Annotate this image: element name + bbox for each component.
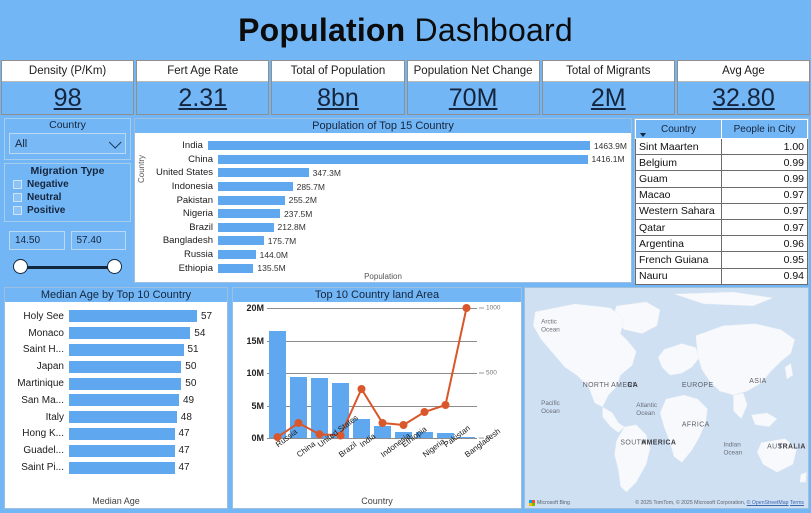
median-age-row[interactable]: San Ma...49 — [7, 392, 223, 409]
bing-logo: Microsoft Bing — [529, 500, 570, 506]
population-bar-value: 237.5M — [284, 209, 312, 219]
median-age-label: Monaco — [7, 328, 69, 339]
openstreetmap-link[interactable]: © OpenStreetMap — [747, 500, 789, 506]
map-label-indian-ocean-2: Ocean — [723, 449, 742, 456]
median-age-label: Martinique — [7, 378, 69, 389]
kpi-label-0: Density (P/Km) — [2, 61, 133, 82]
chevron-down-icon — [109, 136, 122, 149]
page-title: Population Dashboard — [0, 5, 811, 55]
range-min-input[interactable]: 14.50 — [9, 231, 65, 250]
median-age-xlabel: Median Age — [5, 496, 227, 506]
median-age-value: 54 — [194, 328, 205, 339]
population-bar-value: 255.2M — [289, 195, 317, 205]
range-slider[interactable] — [15, 259, 120, 275]
sort-desc-icon — [640, 133, 646, 137]
cell-country: Macao — [636, 187, 722, 203]
land-area-title: Top 10 Country land Area — [233, 288, 521, 302]
country-filter: Country All — [4, 118, 131, 160]
population-bar[interactable] — [218, 168, 309, 177]
map-label-australia-bold: TRALIA — [778, 444, 806, 451]
land-area-line-series — [267, 308, 477, 438]
land-area-ytick: 15M — [246, 336, 264, 346]
population-bar[interactable] — [218, 223, 274, 232]
median-age-bar[interactable] — [69, 344, 184, 356]
map-label-europe: EUROPE — [682, 382, 714, 389]
median-age-plot: Holy See57Monaco54Saint H...51Japan50Mar… — [5, 302, 227, 508]
table-row[interactable]: French Guiana0.95 — [636, 252, 808, 268]
land-area-plot: 0M5M10M15M20M05001000 RussiaChinaUnited … — [233, 302, 521, 508]
population-bar[interactable] — [218, 250, 256, 259]
kpi-row: Density (P/Km)98Fert Age Rate2.31Total o… — [0, 60, 811, 115]
map-label-asia: ASIA — [749, 378, 766, 385]
population-bar-value: 144.0M — [260, 250, 288, 260]
population-bar-row[interactable]: Bangladesh175.7M — [145, 234, 627, 248]
country-select-value: All — [15, 138, 27, 150]
population-top15-chart: Population of Top 15 Country Country Ind… — [134, 118, 632, 283]
land-area-density-point[interactable] — [358, 385, 366, 393]
median-age-bar[interactable] — [69, 445, 175, 457]
table-row[interactable]: Macao0.97 — [636, 187, 808, 203]
population-bar-value: 285.7M — [297, 182, 325, 192]
people-in-city-table-panel: Country People in City Sint Maarten1.00B… — [634, 118, 809, 283]
population-bar-label: Brazil — [145, 222, 218, 233]
kpi-value-1: 2.31 — [137, 82, 268, 114]
land-area-density-line — [278, 308, 467, 437]
median-age-value: 50 — [185, 378, 196, 389]
population-bar-row[interactable]: Nigeria237.5M — [145, 207, 627, 221]
migration-option-label: Neutral — [27, 192, 61, 203]
map-label-africa: AFRICA — [682, 422, 710, 429]
population-bar-label: Pakistan — [145, 195, 218, 206]
range-slider-handle-min[interactable] — [13, 259, 28, 274]
country-filter-label: Country — [5, 119, 130, 132]
population-bar-row[interactable]: India1463.9M — [145, 139, 627, 153]
cell-people-in-city: 0.94 — [722, 268, 808, 284]
microsoft-logo-icon — [529, 500, 535, 506]
land-area-chart: Top 10 Country land Area 0M5M10M15M20M05… — [232, 287, 522, 509]
population-top15-bars: India1463.9MChina1416.1MUnited States347… — [145, 139, 627, 275]
population-bar-row[interactable]: Indonesia285.7M — [145, 180, 627, 194]
map-label-atlantic-ocean: Atlantic — [636, 402, 657, 409]
kpi-card-1: Fert Age Rate2.31 — [136, 60, 269, 115]
cell-country: Nauru — [636, 268, 722, 284]
range-slider-track — [15, 266, 120, 269]
median-age-bar[interactable] — [69, 327, 190, 339]
population-bar-label: United States — [145, 167, 218, 178]
median-age-row[interactable]: Monaco54 — [7, 325, 223, 342]
population-bar-value: 1463.9M — [594, 141, 627, 151]
population-bar-label: China — [145, 154, 218, 165]
kpi-label-2: Total of Population — [272, 61, 403, 82]
cell-country: Qatar — [636, 219, 722, 235]
land-area-xtick: China — [295, 439, 317, 459]
population-bar-value: 1416.1M — [592, 154, 625, 164]
median-age-label: Italy — [7, 412, 69, 423]
median-age-value: 50 — [185, 361, 196, 372]
kpi-value-3: 70M — [408, 82, 539, 114]
column-header-people-in-city[interactable]: People in City — [722, 120, 808, 139]
population-bar-label: Nigeria — [145, 208, 218, 219]
land-area-xtick: Brazil — [337, 440, 358, 459]
median-age-label: Guadel... — [7, 445, 69, 456]
range-max-input[interactable]: 57.40 — [71, 231, 127, 250]
kpi-value-0: 98 — [2, 82, 133, 114]
median-age-value: 51 — [188, 344, 199, 355]
migration-type-filter: Migration Type NegativeNeutralPositive — [4, 163, 131, 222]
map-label-north-america-bold: CA — [627, 382, 638, 389]
population-bar[interactable] — [218, 155, 588, 164]
map-label-atlantic-ocean-2: Ocean — [636, 410, 655, 417]
land-area-ytick-mark — [479, 373, 484, 374]
median-age-row[interactable]: Guadel...47 — [7, 442, 223, 459]
migration-type-label: Migration Type — [5, 164, 130, 178]
cell-country: Guam — [636, 171, 722, 187]
land-area-density-point[interactable] — [379, 419, 387, 427]
cell-people-in-city: 0.99 — [722, 155, 808, 171]
world-map[interactable]: Arctic Ocean NORTH AMERI CA Pacific Ocea… — [525, 288, 808, 508]
median-age-bar[interactable] — [69, 462, 175, 474]
migration-option-negative[interactable]: Negative — [5, 178, 130, 191]
median-age-value: 47 — [179, 462, 190, 473]
range-slider-filter: 14.50 57.40 — [4, 226, 131, 282]
median-age-value: 57 — [201, 311, 212, 322]
population-bar-label: India — [145, 140, 208, 151]
cell-people-in-city: 0.96 — [722, 236, 808, 252]
kpi-label-5: Avg Age — [678, 61, 809, 82]
population-bar-row[interactable]: China1416.1M — [145, 153, 627, 167]
map-label-arctic-ocean-2: Ocean — [541, 327, 560, 334]
population-bar-label: Bangladesh — [145, 235, 218, 246]
cell-people-in-city: 0.97 — [722, 203, 808, 219]
table-row[interactable]: Nauru0.94 — [636, 268, 808, 284]
kpi-card-5: Avg Age32.80 — [677, 60, 810, 115]
map-attribution: © 2025 TomTom, © 2025 Microsoft Corporat… — [635, 500, 804, 506]
median-age-bar[interactable] — [69, 428, 175, 440]
population-bar-row[interactable]: United States347.3M — [145, 166, 627, 180]
median-age-label: Japan — [7, 361, 69, 372]
population-bar-row[interactable]: Brazil212.8M — [145, 221, 627, 235]
population-bar[interactable] — [218, 209, 280, 218]
median-age-label: Hong K... — [7, 428, 69, 439]
population-top15-xlabel: Population — [135, 272, 631, 281]
people-in-city-table: Country People in City Sint Maarten1.00B… — [635, 119, 808, 285]
median-age-value: 47 — [179, 445, 190, 456]
terms-link[interactable]: Terms — [790, 500, 804, 506]
median-age-label: San Ma... — [7, 395, 69, 406]
population-bar[interactable] — [218, 196, 285, 205]
map-attribution-text: © 2025 TomTom, © 2025 Microsoft Corporat… — [635, 500, 745, 506]
table-row[interactable]: Guam0.99 — [636, 171, 808, 187]
median-age-row[interactable]: Hong K...47 — [7, 426, 223, 443]
land-area-density-point[interactable] — [463, 304, 471, 312]
population-bar[interactable] — [218, 182, 293, 191]
land-area-ytick-right: 500 — [486, 370, 497, 377]
median-age-value: 48 — [181, 412, 192, 423]
land-area-density-point[interactable] — [400, 421, 408, 429]
population-bar-value: 347.3M — [313, 168, 341, 178]
median-age-label: Saint Pi... — [7, 462, 69, 473]
checkbox-icon[interactable] — [13, 193, 22, 202]
median-age-bar[interactable] — [69, 378, 181, 390]
map-label-south-america-bold: AMERICA — [641, 440, 676, 447]
population-bar-value: 212.8M — [278, 222, 306, 232]
median-age-row[interactable]: Saint H...51 — [7, 342, 223, 359]
land-area-ytick: 5M — [251, 401, 264, 411]
column-header-country[interactable]: Country — [636, 120, 722, 139]
migration-option-label: Positive — [27, 205, 65, 216]
population-bar[interactable] — [218, 236, 264, 245]
land-area-density-point[interactable] — [442, 401, 450, 409]
table-body: Sint Maarten1.00Belgium0.99Guam0.99Macao… — [636, 139, 808, 285]
kpi-value-5: 32.80 — [678, 82, 809, 114]
kpi-value-2: 8bn — [272, 82, 403, 114]
land-area-ytick-right: 1000 — [486, 305, 500, 312]
kpi-card-4: Total of Migrants2M — [542, 60, 675, 115]
kpi-card-3: Population Net Change70M — [407, 60, 540, 115]
land-area-ytick: 20M — [246, 303, 264, 313]
cell-country: Western Sahara — [636, 203, 722, 219]
population-bar-row[interactable]: Pakistan255.2M — [145, 193, 627, 207]
median-age-bar[interactable] — [69, 411, 177, 423]
table-row[interactable]: Belgium0.99 — [636, 155, 808, 171]
kpi-label-4: Total of Migrants — [543, 61, 674, 82]
checkbox-icon[interactable] — [13, 180, 22, 189]
land-area-ytick: 0M — [251, 433, 264, 443]
median-age-label: Saint H... — [7, 344, 69, 355]
cell-people-in-city: 0.99 — [722, 171, 808, 187]
median-age-row[interactable]: Saint Pi...47 — [7, 459, 223, 476]
cell-country: Argentina — [636, 236, 722, 252]
range-slider-handle-max[interactable] — [107, 259, 122, 274]
population-bar-label: Indonesia — [145, 181, 218, 192]
kpi-label-3: Population Net Change — [408, 61, 539, 82]
median-age-value: 47 — [179, 428, 190, 439]
median-age-row[interactable]: Holy See57 — [7, 308, 223, 325]
cell-country: Belgium — [636, 155, 722, 171]
median-age-bars: Holy See57Monaco54Saint H...51Japan50Mar… — [5, 302, 227, 476]
world-map-panel[interactable]: Arctic Ocean NORTH AMERI CA Pacific Ocea… — [524, 287, 809, 509]
cell-country: French Guiana — [636, 252, 722, 268]
median-age-value: 49 — [183, 395, 194, 406]
table-header-row: Country People in City — [636, 120, 808, 139]
cell-people-in-city: 0.97 — [722, 219, 808, 235]
median-age-row[interactable]: Japan50 — [7, 358, 223, 375]
median-age-label: Holy See — [7, 311, 69, 322]
map-label-pacific-ocean: Pacific — [541, 400, 560, 407]
land-area-xlabel: Country — [233, 496, 521, 506]
population-top15-plot: Country India1463.9MChina1416.1MUnited S… — [135, 133, 631, 283]
median-age-chart: Median Age by Top 10 Country Holy See57M… — [4, 287, 228, 509]
median-age-bar[interactable] — [69, 361, 181, 373]
cell-people-in-city: 1.00 — [722, 139, 808, 155]
land-area-density-point[interactable] — [421, 408, 429, 416]
kpi-label-1: Fert Age Rate — [137, 61, 268, 82]
cell-people-in-city: 0.97 — [722, 187, 808, 203]
table-row[interactable]: Argentina0.96 — [636, 236, 808, 252]
kpi-value-4: 2M — [543, 82, 674, 114]
median-age-bar[interactable] — [69, 394, 179, 406]
median-age-row[interactable]: Italy48 — [7, 409, 223, 426]
table-row[interactable]: Qatar0.97 — [636, 219, 808, 235]
map-label-arctic-ocean: Arctic — [541, 319, 557, 326]
population-top15-title: Population of Top 15 Country — [135, 119, 631, 133]
migration-type-options: NegativeNeutralPositive — [5, 178, 130, 217]
map-label-pacific-ocean-2: Ocean — [541, 408, 560, 415]
population-bar-value: 175.7M — [268, 236, 296, 246]
page-title-part2: Dashboard — [415, 12, 573, 48]
population-bar-label: Russia — [145, 249, 218, 260]
migration-option-label: Negative — [27, 179, 69, 190]
land-area-ytick: 10M — [246, 368, 264, 378]
population-bar-row[interactable]: Russia144.0M — [145, 248, 627, 262]
population-bar[interactable] — [208, 141, 590, 150]
median-age-title: Median Age by Top 10 Country — [5, 288, 227, 302]
land-area-xticks: RussiaChinaUnited StatesBrazilIndiaIndon… — [267, 442, 477, 492]
bing-logo-label: Microsoft Bing — [537, 500, 570, 506]
table-row[interactable]: Sint Maarten1.00 — [636, 139, 808, 155]
cell-people-in-city: 0.95 — [722, 252, 808, 268]
migration-option-neutral[interactable]: Neutral — [5, 191, 130, 204]
cell-country: Sint Maarten — [636, 139, 722, 155]
median-age-row[interactable]: Martinique50 — [7, 375, 223, 392]
table-row[interactable]: Western Sahara0.97 — [636, 203, 808, 219]
page-title-part1: Population — [238, 12, 405, 48]
kpi-card-0: Density (P/Km)98 — [1, 60, 134, 115]
map-label-indian-ocean: Indian — [723, 442, 741, 449]
country-select[interactable]: All — [9, 133, 126, 154]
checkbox-icon[interactable] — [13, 206, 22, 215]
migration-option-positive[interactable]: Positive — [5, 204, 130, 217]
land-area-plot-area: 0M5M10M15M20M05001000 — [267, 308, 477, 438]
land-area-ytick-mark — [479, 308, 484, 309]
kpi-card-2: Total of Population8bn — [271, 60, 404, 115]
land-area-density-point[interactable] — [295, 419, 303, 427]
median-age-bar[interactable] — [69, 310, 197, 322]
